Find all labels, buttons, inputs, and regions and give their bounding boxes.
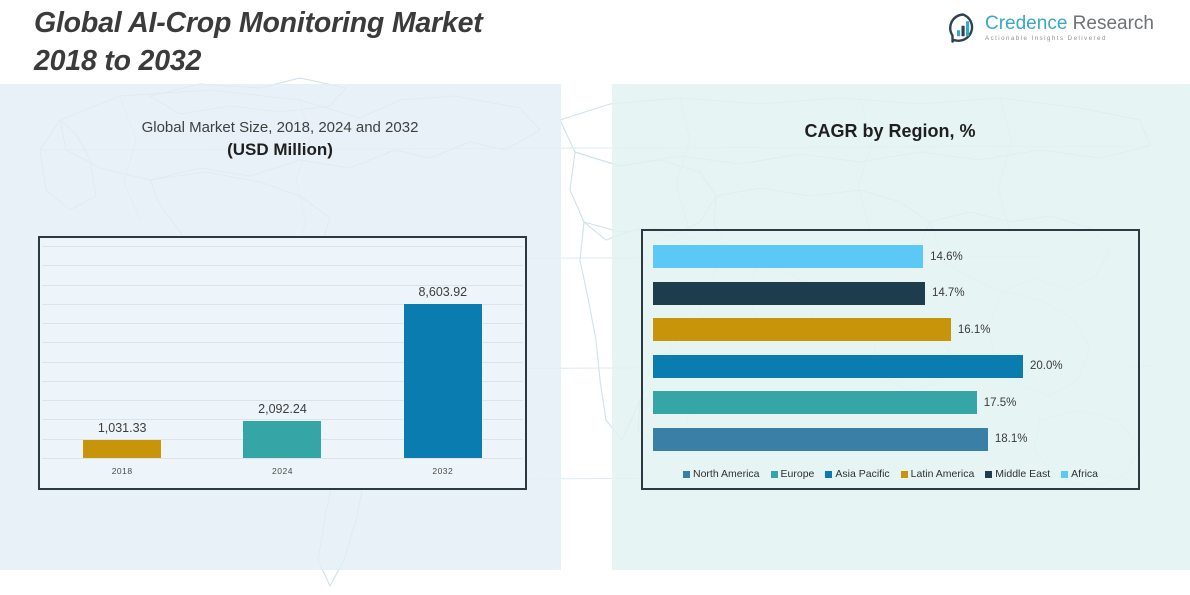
legend-item[interactable]: Europe (771, 468, 815, 480)
bar-africa (653, 245, 923, 268)
bar-value-label: 2,092.24 (258, 402, 307, 416)
bar-2018 (83, 440, 161, 458)
bar-row: 20.0% (653, 355, 1132, 378)
bar-row: 14.6% (653, 245, 1132, 268)
bar-column: 2,092.24 (203, 268, 362, 458)
header: Global AI-Crop Monitoring Market 2018 to… (0, 0, 1190, 84)
credence-research-logo: Credence Research Actionable Insights De… (948, 9, 1148, 47)
bar-row: 18.1% (653, 428, 1132, 451)
right-bar-series: 14.6%14.7%16.1%20.0%17.5%18.1% (653, 245, 1132, 451)
legend-label: Europe (781, 468, 815, 480)
infographic-canvas: Global AI-Crop Monitoring Market 2018 to… (0, 0, 1190, 595)
bar-europe (653, 391, 977, 414)
bar-value-label: 14.7% (932, 287, 965, 299)
legend-item[interactable]: Asia Pacific (825, 468, 889, 480)
bar-value-label: 8,603.92 (418, 285, 467, 299)
left-plot-area: 1,031.332,092.248,603.92 201820242032 (40, 238, 525, 488)
bar-asia-pacific (653, 355, 1023, 378)
bar-2024 (243, 421, 321, 458)
bar-column: 8,603.92 (363, 268, 522, 458)
page-title-line-1: Global AI-Crop Monitoring Market (34, 4, 654, 42)
bar-row: 17.5% (653, 391, 1132, 414)
right-chart-heading: CAGR by Region, % (640, 118, 1140, 144)
market-size-bar-chart: 1,031.332,092.248,603.92 201820242032 (38, 236, 527, 490)
left-chart-unit: (USD Million) (30, 138, 530, 163)
legend-item[interactable]: North America (683, 468, 760, 480)
legend-item[interactable]: Africa (1061, 468, 1098, 480)
legend-label: Latin America (911, 468, 975, 480)
bar-value-label: 18.1% (995, 433, 1028, 445)
left-chart-subtitle: Global Market Size, 2018, 2024 and 2032 (30, 118, 530, 138)
page-title-line-2: 2018 to 2032 (34, 42, 654, 80)
bar-north-america (653, 428, 988, 451)
legend-item[interactable]: Middle East (985, 468, 1050, 480)
legend-label: North America (693, 468, 760, 480)
cagr-by-region-chart: 14.6%14.7%16.1%20.0%17.5%18.1% North Ame… (641, 229, 1140, 490)
bar-value-label: 17.5% (984, 397, 1017, 409)
bar-value-label: 16.1% (958, 324, 991, 336)
legend-label: Africa (1071, 468, 1098, 480)
bar-middle-east (653, 282, 925, 305)
legend-swatch-icon (901, 471, 908, 478)
bar-2032 (404, 304, 482, 458)
logo-name: Credence Research (985, 14, 1154, 34)
x-axis-label: 2018 (43, 466, 202, 476)
gridline (42, 458, 523, 459)
bar-value-label: 14.6% (930, 251, 963, 263)
legend-item[interactable]: Latin America (901, 468, 975, 480)
legend-swatch-icon (985, 471, 992, 478)
right-chart-title: CAGR by Region, % (640, 118, 1140, 144)
bar-latin-america (653, 318, 951, 341)
page-title: Global AI-Crop Monitoring Market 2018 to… (34, 4, 654, 80)
left-chart-title: Global Market Size, 2018, 2024 and 2032 … (30, 118, 530, 163)
gridline (42, 265, 523, 266)
x-axis-label: 2024 (203, 466, 362, 476)
bar-row: 16.1% (653, 318, 1132, 341)
bar-row: 14.7% (653, 282, 1132, 305)
logo-text: Credence Research Actionable Insights De… (985, 14, 1154, 43)
bar-column: 1,031.33 (43, 268, 202, 458)
left-x-axis: 201820242032 (42, 462, 523, 480)
logo-name-part1: Credence (985, 13, 1067, 34)
legend-swatch-icon (683, 471, 690, 478)
logo-name-part2: Research (1073, 13, 1154, 34)
gridline (42, 246, 523, 247)
bar-chart-circle-icon (948, 13, 978, 43)
legend-label: Asia Pacific (835, 468, 889, 480)
bar-value-label: 20.0% (1030, 360, 1063, 372)
legend-swatch-icon (771, 471, 778, 478)
legend-swatch-icon (1061, 471, 1068, 478)
legend-label: Middle East (995, 468, 1050, 480)
logo-tagline: Actionable Insights Delivered (985, 35, 1154, 42)
x-axis-label: 2032 (363, 466, 522, 476)
chart-legend: North AmericaEuropeAsia PacificLatin Ame… (643, 468, 1138, 480)
left-bar-series: 1,031.332,092.248,603.92 (42, 268, 523, 458)
bar-value-label: 1,031.33 (98, 421, 147, 435)
legend-swatch-icon (825, 471, 832, 478)
